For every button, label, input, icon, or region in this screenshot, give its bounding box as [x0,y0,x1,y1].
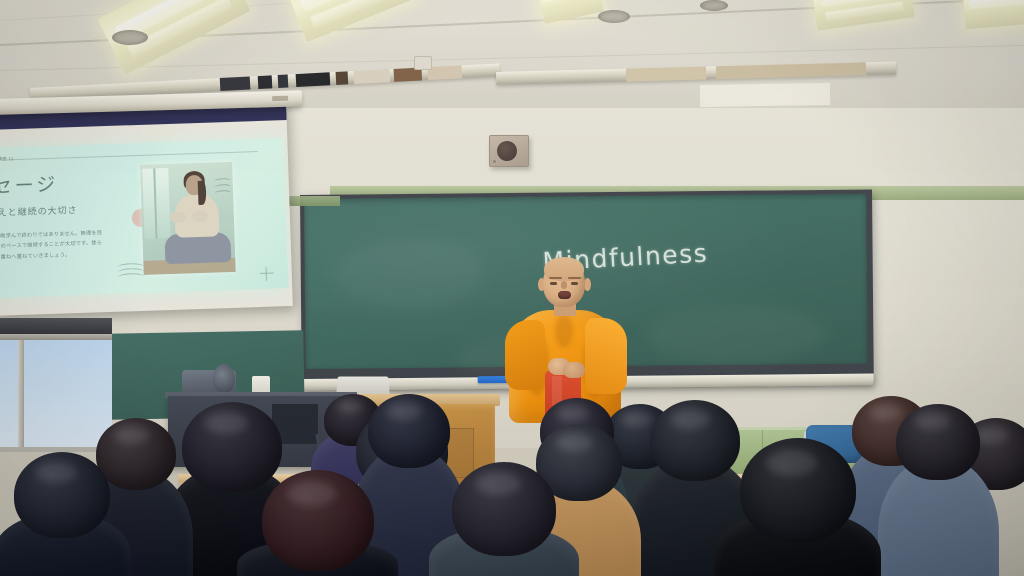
slide-subtitle: 学びの心構えと継続の大切さ [0,203,78,220]
wall-speaker-icon [489,135,529,167]
projector-screen: 心と身体の教養講座 11 メッセージ 学びの心構えと継続の大切さ マインドフルネ… [0,94,293,316]
hair-highlight [386,402,422,420]
slide-wave-decoration [117,263,144,280]
monk-shoulder-left [505,320,545,390]
slide-meditation-photo [140,162,236,275]
ceiling-vent-1 [112,30,148,45]
monk-shoulder-right [585,318,627,394]
audience-person [896,404,980,576]
window-shade[interactable] [0,318,112,334]
ceiling-vent-3 [700,0,728,11]
hair-highlight [114,426,149,444]
audience-person [14,452,110,576]
slide-cross-mark [260,267,274,281]
ceiling-vent-2 [598,10,630,23]
presentation-slide: 心と身体の教養講座 11 メッセージ 学びの心構えと継続の大切さ マインドフルネ… [0,138,288,299]
monk-hand-right [563,362,585,378]
hair-highlight [555,433,593,452]
hair-highlight [287,481,336,506]
hair-highlight [914,412,951,430]
slide-body-text: マインドフルネスは一晩学んで終わりではありません。無理を目指す必要はなく、自分の… [0,228,107,265]
audience-person [452,462,556,576]
hair-highlight [766,450,817,476]
hair-highlight [620,411,652,427]
lecture-hall-photo: 心と身体の教養講座 11 メッセージ 学びの心構えと継続の大切さ マインドフルネ… [0,0,1024,576]
audience-person [262,470,374,576]
hair-highlight [204,412,248,434]
ceiling-patch [700,83,830,107]
slide-title: メッセージ [0,170,59,201]
audience-person [740,438,856,576]
hair-highlight [35,462,77,483]
hair-highlight [670,409,710,429]
monk-mouth-speaking [558,291,571,299]
ceiling-light-5 [962,0,1024,29]
ceiling-fixture-small [414,56,432,70]
hair-highlight [556,405,589,421]
hair-highlight [475,472,521,495]
